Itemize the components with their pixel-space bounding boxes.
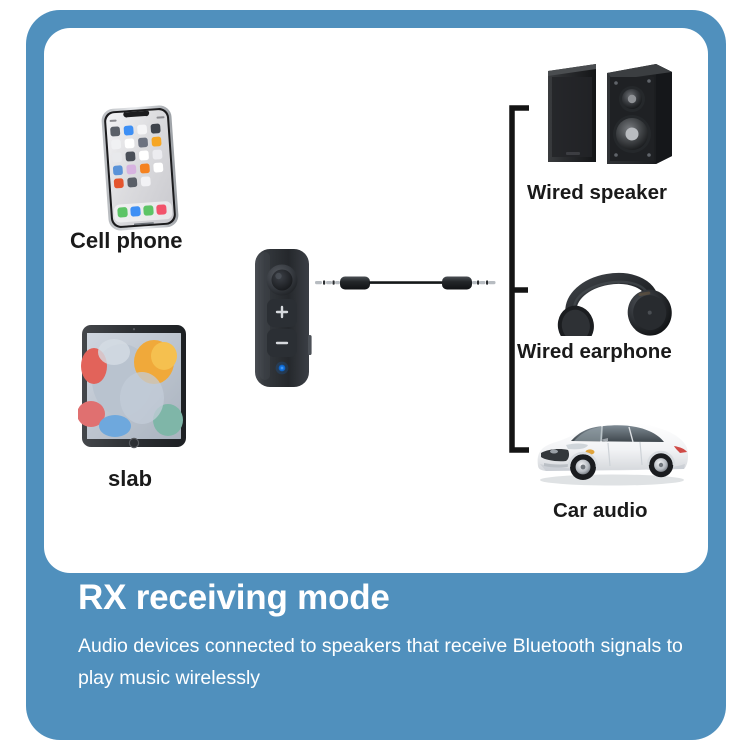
aux-cable-icon	[313, 268, 499, 298]
smartphone-icon	[92, 102, 188, 234]
car-audio-label: Car audio	[553, 501, 648, 522]
mode-title: RX receiving mode	[78, 578, 708, 618]
bookshelf-speakers-icon	[532, 52, 684, 170]
tablet-icon	[78, 322, 190, 450]
slab-label: slab	[108, 468, 152, 490]
over-ear-headphones-icon	[542, 252, 692, 336]
footer-block: RX receiving mode Audio devices connecte…	[78, 578, 708, 694]
infographic-canvas: Cell phone	[0, 0, 750, 750]
wired-speaker-label: Wired speaker	[527, 183, 667, 204]
cell-phone-label: Cell phone	[70, 230, 182, 252]
mode-description: Audio devices connected to speakers that…	[78, 631, 696, 694]
sedan-car-icon	[528, 408, 696, 488]
bluetooth-receiver-device	[252, 247, 318, 389]
wired-earphone-label: Wired earphone	[517, 342, 672, 363]
